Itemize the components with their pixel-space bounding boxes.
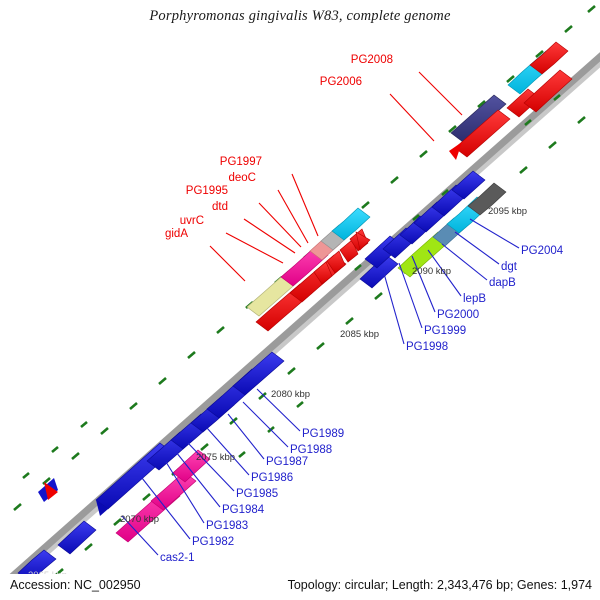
leader-line <box>210 246 245 281</box>
gene-label-pg1985[interactable]: PG1985 <box>236 488 278 500</box>
leader-line <box>292 174 318 236</box>
tick-2095: 2095 kbp <box>488 206 527 217</box>
accession-label: Accession: NC_002950 <box>10 578 141 592</box>
gene-label-pg1987[interactable]: PG1987 <box>266 456 308 468</box>
tick-2080: 2080 kbp <box>271 389 310 400</box>
gene-label-pg1999[interactable]: PG1999 <box>424 325 466 337</box>
gene-label-dapb[interactable]: dapB <box>489 277 516 289</box>
gene-label-pg1982[interactable]: PG1982 <box>192 536 234 548</box>
genome-info-label: Topology: circular; Length: 2,343,476 bp… <box>288 578 592 592</box>
leader-line <box>278 190 308 243</box>
gene-label-pg1989[interactable]: PG1989 <box>302 428 344 440</box>
gene-label-pg1997[interactable]: PG1997 <box>220 156 262 168</box>
tick-2075: 2075 kbp <box>196 452 235 463</box>
gene-label-dgt[interactable]: dgt <box>501 261 518 273</box>
genome-backbone[interactable] <box>0 48 600 600</box>
gene-label-dtd[interactable]: dtd <box>212 201 228 213</box>
gene-label-gida[interactable]: gidA <box>165 228 188 240</box>
leader-line <box>259 203 301 247</box>
gene-label-uvrc[interactable]: uvrC <box>180 215 204 227</box>
leader-line <box>470 219 519 248</box>
gene-label-deoc[interactable]: deoC <box>229 172 257 184</box>
tick-2070: 2070 kbp <box>120 514 159 525</box>
gene-label-pg2000[interactable]: PG2000 <box>437 309 479 321</box>
leader-line <box>226 233 283 263</box>
leader-line <box>390 94 434 141</box>
gene-label-lepb[interactable]: lepB <box>463 293 486 305</box>
genome-viewer: Porphyromonas gingivalis W83, complete g… <box>0 0 600 600</box>
tick-2090: 2090 kbp <box>412 266 451 277</box>
gene-label-pg2006[interactable]: PG2006 <box>320 76 362 88</box>
leader-line <box>419 72 462 115</box>
gene-label-pg1988[interactable]: PG1988 <box>290 444 332 456</box>
gene-label-pg1986[interactable]: PG1986 <box>251 472 293 484</box>
gene-label-pg1983[interactable]: PG1983 <box>206 520 248 532</box>
status-bar: Accession: NC_002950 Topology: circular;… <box>0 574 600 600</box>
scale-markers-group: 2065 kbp2070 kbp2075 kbp2080 kbp2085 kbp… <box>28 206 527 581</box>
tick-2085: 2085 kbp <box>340 329 379 340</box>
gene-label-pg2004[interactable]: PG2004 <box>521 245 564 257</box>
gene-red-ur4[interactable] <box>530 42 568 74</box>
gene-label-pg1995[interactable]: PG1995 <box>186 185 228 197</box>
genome-map[interactable]: PG2008PG2006PG1997deoCPG1995dtduvrCgidA … <box>0 0 600 600</box>
gene-label-pg1984[interactable]: PG1984 <box>222 504 265 516</box>
leader-line <box>383 270 404 344</box>
gene-label-pg2008[interactable]: PG2008 <box>351 54 393 66</box>
gene-label-cas2-1[interactable]: cas2-1 <box>160 552 195 564</box>
leader-line <box>244 219 295 253</box>
leader-line <box>243 402 288 447</box>
gene-label-pg1998[interactable]: PG1998 <box>406 341 448 353</box>
